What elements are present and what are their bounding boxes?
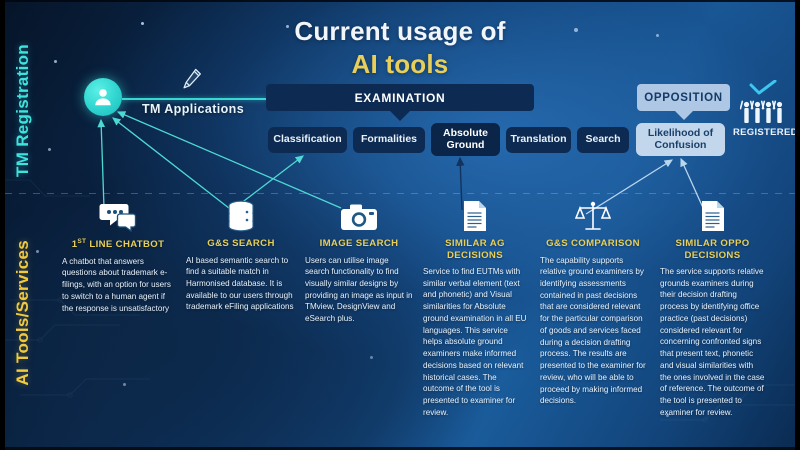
check-icon xyxy=(749,80,777,96)
star-dot xyxy=(123,383,126,386)
tool-card-chatbot: 1ST LINE CHATBOT A chatbot that answers … xyxy=(62,198,174,314)
tool-title-image-search: IMAGE SEARCH xyxy=(305,238,413,250)
letterbox-left xyxy=(0,0,5,450)
title-line-1: Current usage of xyxy=(0,16,800,47)
stage-translation[interactable]: Translation xyxy=(506,127,571,153)
banner-examination[interactable]: EXAMINATION xyxy=(266,84,534,111)
pencil-icon xyxy=(182,68,202,90)
people-celebrating-icon xyxy=(740,97,786,125)
database-icon xyxy=(186,198,296,232)
stage-formalities[interactable]: Formalities xyxy=(353,127,425,153)
stage-search-label: Search xyxy=(585,134,620,146)
banner-examination-label: EXAMINATION xyxy=(355,91,446,105)
tool-title-similar-ag-decisions: SIMILAR AG DECISIONS xyxy=(423,238,527,261)
stage-absolute-ground-line1: Absolute xyxy=(443,127,488,139)
letterbox-right xyxy=(795,0,800,450)
tm-applications-label: TM Applications xyxy=(142,102,244,116)
applicant-avatar xyxy=(84,78,122,116)
tool-title-chatbot-rest: LINE CHATBOT xyxy=(86,239,164,250)
tool-card-gs-search: G&S SEARCH AI based semantic search to f… xyxy=(186,198,296,313)
stage-lok-line1: Likelihood of xyxy=(648,127,713,139)
tool-body-gs-search: AI based semantic search to find a suita… xyxy=(186,255,296,314)
stage-translation-label: Translation xyxy=(511,134,567,146)
tool-body-gs-comparison: The capability supports relative ground … xyxy=(540,255,646,408)
banner-opposition-label: OPPOSITION xyxy=(644,92,723,104)
stage-lok-line2: Confusion xyxy=(655,139,707,151)
tool-title-chatbot: 1ST LINE CHATBOT xyxy=(62,238,174,251)
stage-classification[interactable]: Classification xyxy=(268,127,347,153)
banner-opposition[interactable]: OPPOSITION xyxy=(637,84,730,111)
tool-card-gs-comparison: G&S COMPARISON The capability supports r… xyxy=(540,198,646,407)
band-label-ai-tools: AI Tools/Services xyxy=(13,240,33,386)
document-icon xyxy=(423,198,527,232)
camera-icon xyxy=(305,198,413,232)
tool-card-image-search: IMAGE SEARCH Users can utilise image sea… xyxy=(305,198,413,325)
outcome-registered: REGISTERED xyxy=(733,80,793,138)
stage-absolute-ground[interactable]: Absolute Ground xyxy=(431,123,500,156)
stage-likelihood-of-confusion-label: Likelihood of Confusion xyxy=(648,128,713,152)
band-divider xyxy=(5,193,795,194)
tool-title-similar-oppo-decisions: SIMILAR OPPO DECISIONS xyxy=(660,238,765,261)
tool-body-similar-ag-decisions: Service to find EUTMs with similar verba… xyxy=(423,266,527,419)
registered-label: REGISTERED xyxy=(733,127,793,138)
stage-search[interactable]: Search xyxy=(577,127,629,153)
tool-body-image-search: Users can utilise image search functiona… xyxy=(305,255,413,325)
document-icon xyxy=(660,198,765,232)
star-dot xyxy=(370,356,373,359)
tm-applications-connector xyxy=(122,98,267,100)
stage-likelihood-of-confusion[interactable]: Likelihood of Confusion xyxy=(636,123,725,156)
star-dot xyxy=(48,148,51,151)
tool-body-chatbot: A chatbot that answers questions about t… xyxy=(62,256,174,315)
letterbox-top xyxy=(0,0,800,2)
tool-title-gs-comparison: G&S COMPARISON xyxy=(540,238,646,250)
title-line-2: AI tools xyxy=(0,49,800,80)
stage-formalities-label: Formalities xyxy=(361,134,417,146)
user-icon xyxy=(92,86,114,108)
stage-absolute-ground-line2: Ground xyxy=(447,139,485,151)
star-dot xyxy=(36,250,39,253)
chat-bubbles-icon xyxy=(62,198,174,232)
tool-title-gs-search: G&S SEARCH xyxy=(186,238,296,250)
stage-classification-label: Classification xyxy=(273,134,341,146)
tool-card-similar-oppo-decisions: SIMILAR OPPO DECISIONS The service suppo… xyxy=(660,198,765,419)
scales-icon xyxy=(540,198,646,232)
stage-absolute-ground-label: Absolute Ground xyxy=(443,128,488,152)
slide-canvas: TM Registration AI Tools/Services Curren… xyxy=(0,0,800,450)
slide-title: Current usage of AI tools xyxy=(0,16,800,80)
tool-body-similar-oppo-decisions: The service supports relative grounds ex… xyxy=(660,266,765,419)
tool-card-similar-ag-decisions: SIMILAR AG DECISIONS Service to find EUT… xyxy=(423,198,527,419)
